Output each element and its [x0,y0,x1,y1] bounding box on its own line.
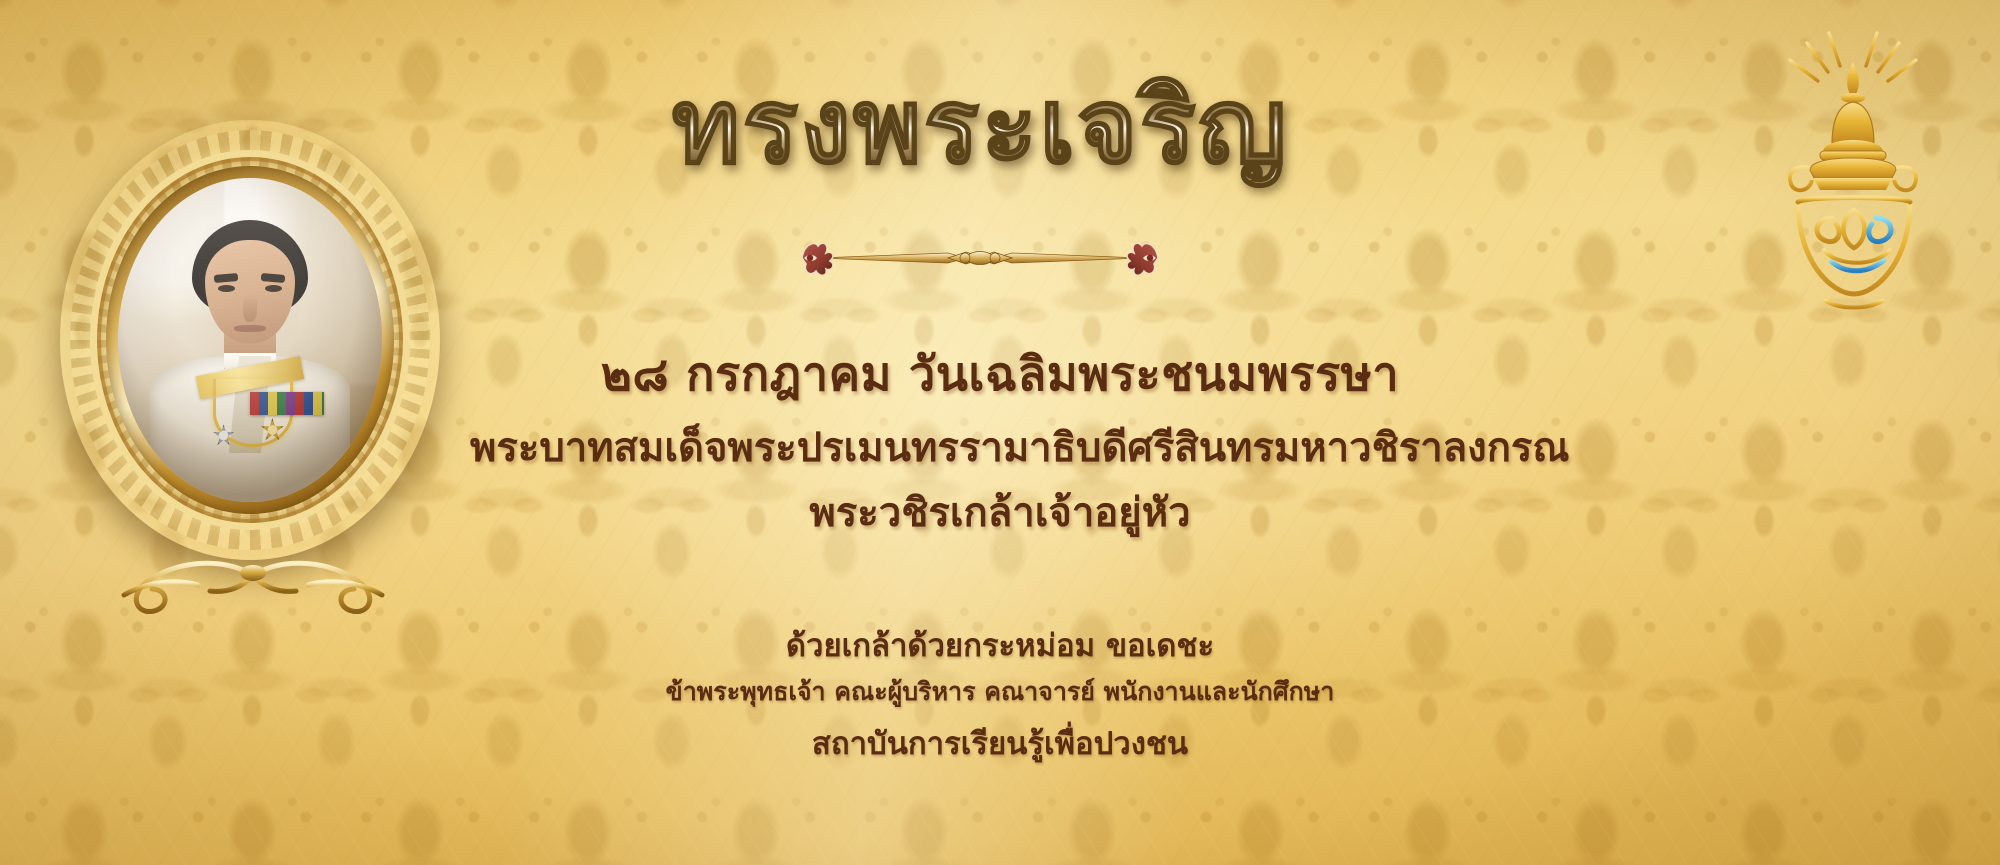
royal-crown [1790,62,1916,190]
portrait-shading-overlay [118,178,382,502]
scrollwork-ornament-icon [78,545,428,625]
organization-name: สถาบันการเรียนรู้เพื่อปวงชน [470,718,1530,768]
signature-line-1: ด้วยเกล้าด้วยกระหม่อม ขอเดชะ [470,620,1530,670]
signature-line-2: ข้าพระพุทธเจ้า คณะผู้บริหาร คณาจารย์ พนั… [470,672,1530,712]
royal-cypher-emblem-icon [1728,18,1978,318]
royal-celebration-banner: ทรงพระเจริญ [0,0,2000,865]
emblem-base-flourish [1824,300,1884,308]
royal-name-line-2: พระวชิรเกล้าเจ้าอยู่หัว [470,480,1530,544]
main-title-text: ทรงพระเจริญ [672,74,1288,178]
main-title: ทรงพระเจริญ [600,62,1360,190]
royal-portrait-photo [118,178,382,502]
ornamental-divider-icon [760,238,1200,278]
royal-name-line-1: พระบาทสมเด็จพระปรเมนทรรามาธิบดีศรีสินทรม… [470,415,1530,479]
cypher-monogram [1798,198,1910,295]
celebration-date-line: ๒๘ กรกฎาคม วันเฉลิมพระชนมพรรษา [470,336,1530,411]
royal-portrait-frame [60,120,440,560]
